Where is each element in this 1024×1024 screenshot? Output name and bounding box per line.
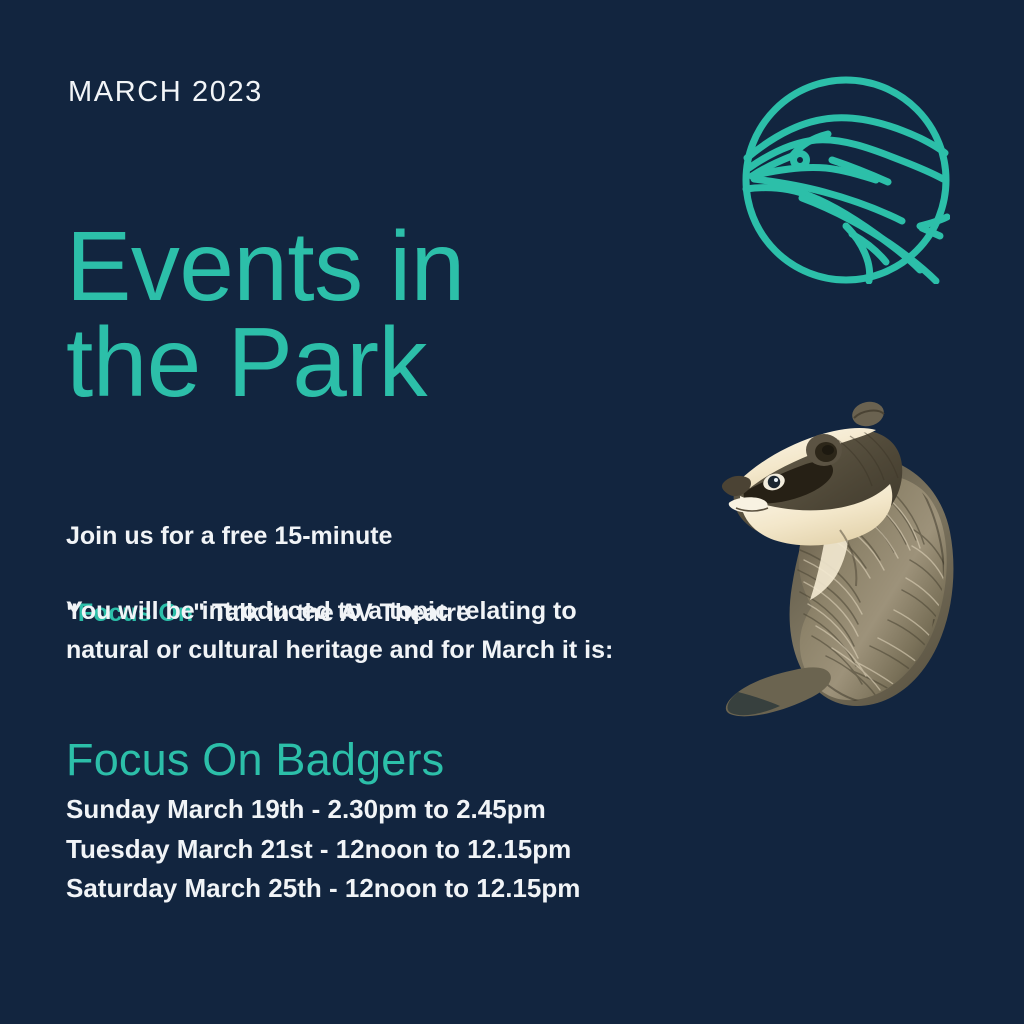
session-list: Sunday March 19th - 2.30pm to 2.45pm Tue… [66,790,580,909]
poster-eyebrow-date: MARCH 2023 [68,78,263,107]
badger-ear-far [850,399,886,429]
page-title: Events in the Park [66,218,465,410]
badger-illustration [700,370,990,730]
badger-eye-highlight [774,478,778,482]
badger-icon [700,370,990,730]
brand-logo [742,76,950,284]
bird-head-circle-icon [742,76,950,284]
intro-line-1: Join us for a free 15-minute [66,517,470,556]
topic-paragraph: You will be introduced to a topic relati… [66,592,613,670]
poster-canvas: MARCH 2023 Events in the Park [0,0,1024,1024]
list-item: Saturday March 25th - 12noon to 12.15pm [66,869,580,909]
badger-ear-core [822,445,834,455]
focus-topic-heading: Focus On Badgers [66,737,444,782]
list-item: Sunday March 19th - 2.30pm to 2.45pm [66,790,580,830]
badger-eye-iris [768,476,780,488]
list-item: Tuesday March 21st - 12noon to 12.15pm [66,830,580,870]
